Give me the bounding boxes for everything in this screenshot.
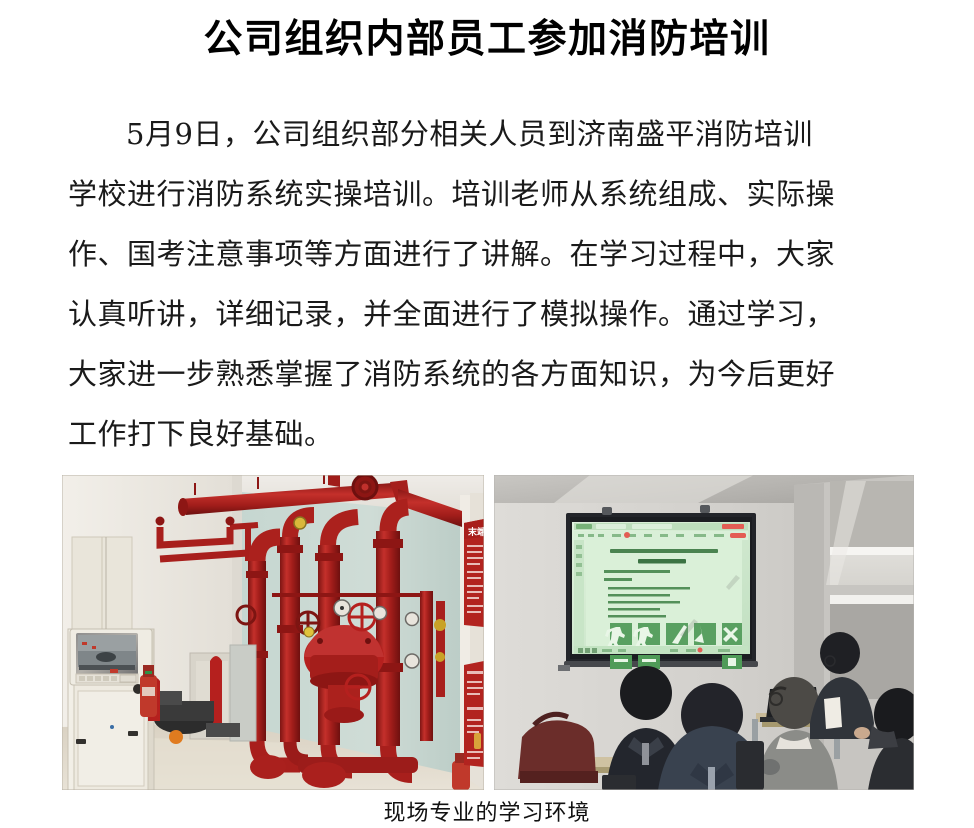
- article-body: 5月9日，公司组织部分相关人员到济南盛平消防培训 学校进行消防系统实操培训。培训…: [68, 104, 913, 464]
- svg-text:末端试水: 末端试水: [467, 526, 484, 538]
- photo-row: 末端试水: [62, 475, 914, 790]
- classroom-training-photo: [494, 475, 914, 790]
- article-page: 公司组织内部员工参加消防培训 5月9日，公司组织部分相关人员到济南盛平消防培训 …: [0, 0, 974, 828]
- body-line: 大家进一步熟悉掌握了消防系统的各方面知识，为今后更好: [68, 344, 913, 404]
- page-title: 公司组织内部员工参加消防培训: [0, 14, 974, 66]
- body-line: 工作打下良好基础。: [68, 404, 913, 464]
- body-line: 学校进行消防系统实操培训。培训老师从系统组成、实际操: [68, 164, 913, 224]
- body-line: 作、国考注意事项等方面进行了讲解。在学习过程中，大家: [68, 224, 913, 284]
- fire-pump-room-illustration: 末端试水: [62, 475, 484, 790]
- photo-caption: 现场专业的学习环境: [0, 795, 974, 827]
- body-line: 5月9日，公司组织部分相关人员到济南盛平消防培训: [68, 104, 913, 164]
- body-line: 认真听讲，详细记录，并全面进行了模拟操作。通过学习，: [68, 284, 913, 344]
- fire-pump-room-photo: 末端试水: [62, 475, 484, 790]
- classroom-illustration: [494, 475, 914, 790]
